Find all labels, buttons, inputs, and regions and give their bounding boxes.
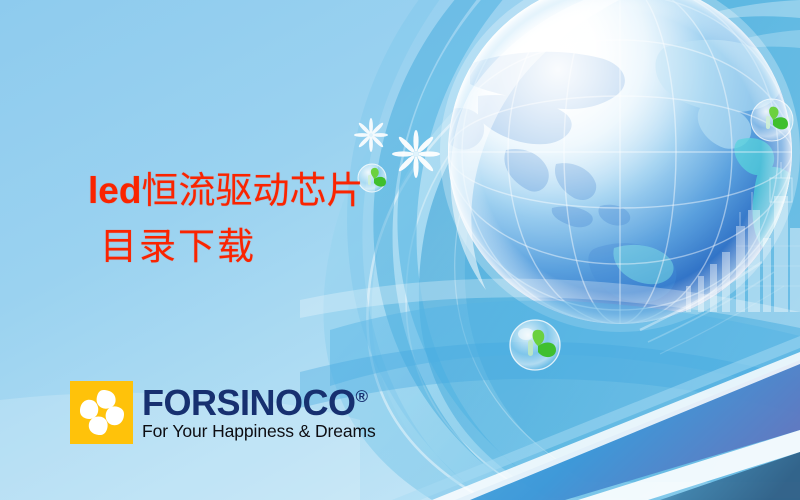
banner-canvas: led恒流驱动芯片 目录下载 FORSINOCO® bbox=[0, 0, 800, 500]
sparkle-flower-small bbox=[354, 118, 388, 152]
headline-line-1: led恒流驱动芯片 bbox=[88, 163, 363, 220]
bubble-sprout-large bbox=[510, 320, 560, 370]
sparkle-flower-large bbox=[392, 130, 440, 178]
headline-line-1-latin: led bbox=[88, 170, 141, 211]
brand-logo: FORSINOCO® For Your Happiness & Dreams bbox=[70, 381, 376, 444]
brand-text-block: FORSINOCO® For Your Happiness & Dreams bbox=[142, 385, 376, 441]
bubble-sprout-corner bbox=[751, 99, 793, 141]
headline-text: led恒流驱动芯片 目录下载 bbox=[88, 163, 363, 276]
headline-line-1-cjk: 恒流驱动芯片 bbox=[141, 171, 363, 212]
registered-trademark-icon: ® bbox=[356, 387, 368, 406]
headline-line-2: 目录下载 bbox=[88, 220, 363, 276]
brand-name: FORSINOCO® bbox=[142, 385, 376, 421]
four-petal-pinwheel-icon bbox=[70, 381, 133, 444]
brand-word: FORSINOCO bbox=[142, 382, 356, 423]
brand-tagline: For Your Happiness & Dreams bbox=[142, 422, 376, 441]
